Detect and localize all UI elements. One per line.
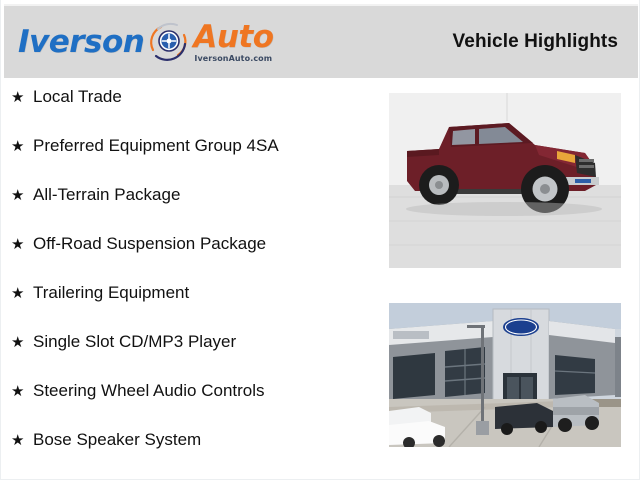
list-item: ★ All-Terrain Package [11, 186, 381, 235]
list-item: ★ Bose Speaker System [11, 431, 381, 480]
star-icon: ★ [11, 237, 33, 252]
logo-brand-second-group: Auto IversonAuto.com [193, 22, 273, 63]
list-item: ★ Off-Road Suspension Package [11, 235, 381, 284]
list-item-label: Preferred Equipment Group 4SA [33, 137, 279, 154]
list-item: ★ Preferred Equipment Group 4SA [11, 137, 381, 186]
list-item-label: Trailering Equipment [33, 284, 189, 301]
list-item-label: Steering Wheel Audio Controls [33, 382, 265, 399]
logo-website-url: IversonAuto.com [194, 54, 273, 63]
list-item-label: Off-Road Suspension Package [33, 235, 266, 252]
wheel-swoosh-icon [147, 20, 191, 64]
star-icon: ★ [11, 384, 33, 399]
dealership-photo[interactable] [389, 303, 621, 447]
list-item: ★ Steering Wheel Audio Controls [11, 382, 381, 431]
dealer-logo[interactable]: Iverson [18, 17, 274, 67]
vehicle-photo[interactable] [389, 93, 621, 268]
star-icon: ★ [11, 286, 33, 301]
logo-brand-second: Auto [193, 22, 273, 53]
list-item: ★ Single Slot CD/MP3 Player [11, 333, 381, 382]
list-item: ★ Local Trade [11, 88, 381, 137]
vehicle-highlights-page: Iverson [0, 0, 640, 480]
logo-brand-first: Iverson [18, 27, 144, 58]
page-header: Iverson [4, 4, 638, 78]
star-icon: ★ [11, 139, 33, 154]
list-item-label: All-Terrain Package [33, 186, 180, 203]
star-icon: ★ [11, 335, 33, 350]
list-item-label: Bose Speaker System [33, 431, 201, 448]
list-item-label: Single Slot CD/MP3 Player [33, 333, 236, 350]
star-icon: ★ [11, 90, 33, 105]
list-item: ★ Trailering Equipment [11, 284, 381, 333]
star-icon: ★ [11, 433, 33, 448]
list-item-label: Local Trade [33, 88, 122, 105]
page-title: Vehicle Highlights [453, 31, 618, 53]
highlights-list: ★ Local Trade ★ Preferred Equipment Grou… [11, 88, 381, 480]
star-icon: ★ [11, 188, 33, 203]
